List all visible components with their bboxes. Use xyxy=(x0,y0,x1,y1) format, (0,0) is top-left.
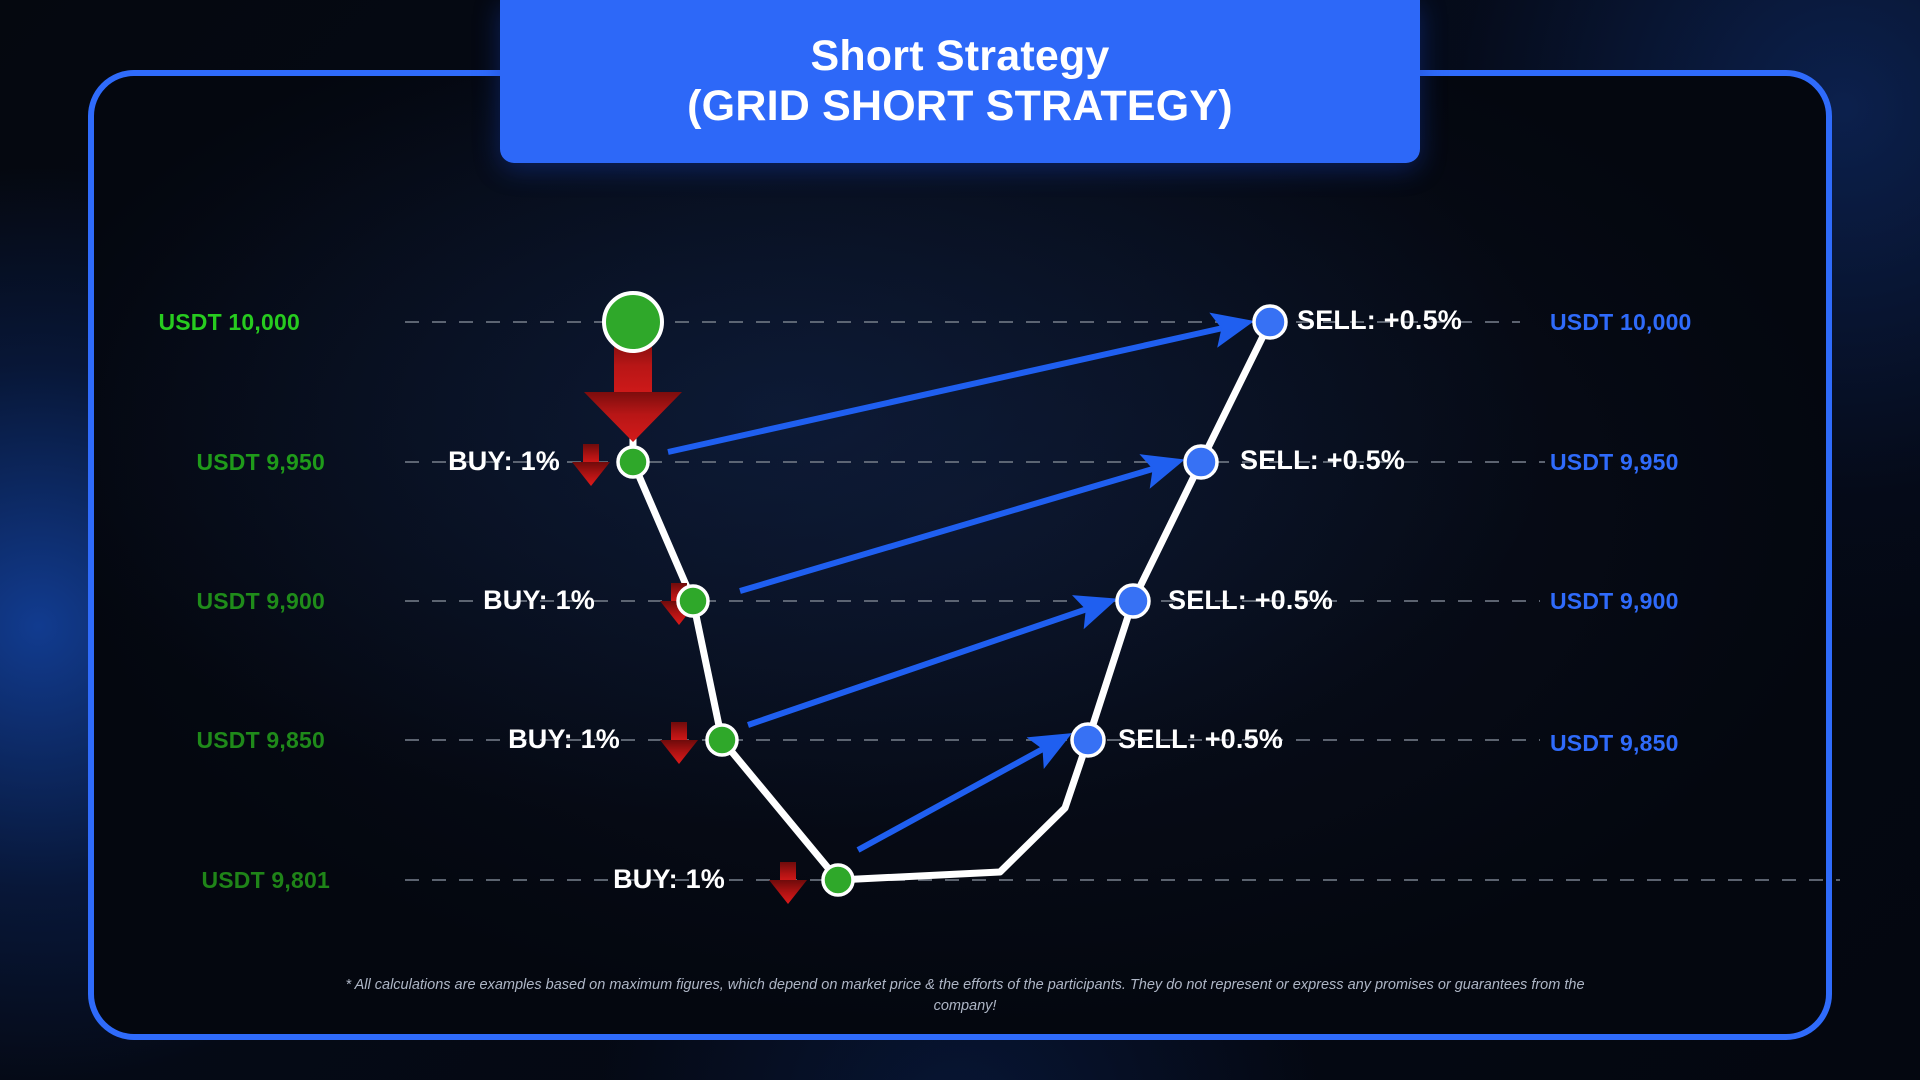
sell-label-9950: SELL: +0.5% xyxy=(1240,445,1405,476)
trade-arrows xyxy=(668,326,1232,850)
sell-node-9950 xyxy=(1185,446,1217,478)
axis-label-right-10000: USDT 10,000 xyxy=(1550,309,1692,336)
entry-drop-arrow-icon xyxy=(584,338,682,442)
buy-arrow-icon-3 xyxy=(660,722,698,764)
buy-label-9801: BUY: 1% xyxy=(395,864,725,895)
sell-node-9900 xyxy=(1117,585,1149,617)
buy-nodes xyxy=(618,447,853,895)
buy-arrow-icon-4 xyxy=(769,862,807,904)
axis-label-right-9950: USDT 9,950 xyxy=(1550,449,1679,476)
trade-arrow-2 xyxy=(740,466,1163,591)
sell-nodes xyxy=(1072,306,1286,756)
sell-label-9850: SELL: +0.5% xyxy=(1118,724,1283,755)
axis-label-left-9801: USDT 9,801 xyxy=(130,867,330,894)
sell-label-10000: SELL: +0.5% xyxy=(1297,305,1462,336)
buy-node-9950 xyxy=(618,447,648,477)
page-title-line2: (GRID SHORT STRATEGY) xyxy=(687,84,1233,130)
buy-node-9850 xyxy=(707,725,737,755)
entry-node xyxy=(604,293,662,351)
trade-arrow-3 xyxy=(748,606,1096,725)
page-title-line1: Short Strategy xyxy=(810,34,1109,80)
sell-label-9900: SELL: +0.5% xyxy=(1168,585,1333,616)
sell-node-9850 xyxy=(1072,724,1104,756)
buy-arrow-icon-1 xyxy=(572,444,610,486)
axis-label-right-9850: USDT 9,850 xyxy=(1550,730,1679,757)
axis-label-left-10000: USDT 10,000 xyxy=(100,309,300,336)
trade-arrow-4 xyxy=(858,744,1052,850)
buy-label-9850: BUY: 1% xyxy=(290,724,620,755)
buy-arrow-icon-2 xyxy=(660,583,698,625)
buy-node-9900 xyxy=(678,586,708,616)
sell-node-10000 xyxy=(1254,306,1286,338)
trade-arrow-1 xyxy=(668,326,1232,452)
buy-trigger-arrows xyxy=(572,444,807,904)
buy-node-9801 xyxy=(823,865,853,895)
buy-label-9900: BUY: 1% xyxy=(265,585,595,616)
footnote-disclaimer: * All calculations are examples based on… xyxy=(330,975,1600,1017)
buy-label-9950: BUY: 1% xyxy=(230,446,560,477)
axis-label-right-9900: USDT 9,900 xyxy=(1550,588,1679,615)
title-banner: Short Strategy (GRID SHORT STRATEGY) xyxy=(500,0,1420,163)
